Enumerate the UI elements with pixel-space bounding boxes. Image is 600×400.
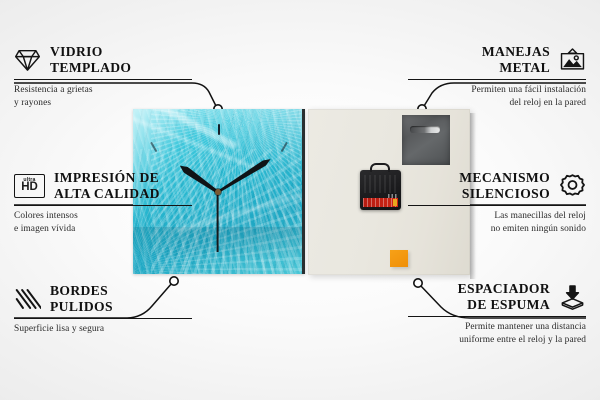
callout-desc-line1: Superficie lisa y segura [14,323,192,336]
metal-hanger-plate [402,115,450,165]
diamond-icon [14,47,41,73]
foam-spacer-pad [390,250,408,267]
callout-foam-spacer: ESPACIADOR DE ESPUMA Permite mantener un… [408,281,586,346]
callout-title-line2: PULIDOS [50,299,113,315]
clock-minute-hand [216,156,272,194]
callout-metal-handles: MANEJAS METAL Permiten una fácil instala… [408,44,586,109]
callout-rule [14,205,192,207]
callout-desc-line1: Resistencia a grietas [14,84,192,97]
gear-icon [559,173,586,199]
callout-desc-line1: Permiten una fácil instalación [408,84,586,97]
callout-desc-line1: Las manecillas del reloj [408,210,586,223]
callout-polished-edges: BORDES PULIDOS Superficie lisa y segura [14,283,192,336]
callout-title-line1: IMPRESIÓN DE [54,170,160,186]
battery-terminal [393,199,397,206]
callout-hd-print: ultra HD IMPRESIÓN DE ALTA CALIDAD Color… [14,170,192,235]
diagonal-lines-icon [14,286,41,312]
battery-compartment [363,198,398,207]
callout-desc-line2: uniforme entre el reloj y la pared [408,334,586,347]
callout-title-line2: DE ESPUMA [458,297,550,313]
callout-title-line2: ALTA CALIDAD [54,186,160,202]
clock-center-hub [215,189,221,195]
callout-title-line2: SILENCIOSO [459,186,550,202]
callout-desc-line2: e imagen vívida [14,223,192,236]
movement-housing-grill [364,175,397,193]
clock-movement-mechanism [360,170,401,210]
callout-desc-line2: del reloj en la pared [408,97,586,110]
callout-desc-line2: y rayones [14,97,192,110]
movement-hanging-loop [370,163,390,172]
callout-desc-line2: no emiten ningún sonido [408,223,586,236]
callout-rule [408,316,586,318]
ultra-hd-icon-main-text: HD [21,182,38,194]
callout-tempered-glass: VIDRIO TEMPLADO Resistencia a grietas y … [14,44,192,109]
callout-rule [14,79,192,81]
infographic-canvas: VIDRIO TEMPLADO Resistencia a grietas y … [0,0,600,400]
callout-rule [14,318,192,320]
callout-title-line2: TEMPLADO [50,60,131,76]
callout-title-line1: VIDRIO [50,44,131,60]
callout-title-line1: MECANISMO [459,170,550,186]
callout-silent-mechanism: MECANISMO SILENCIOSO Las manecillas del … [408,170,586,235]
callout-desc-line1: Permite mantener una distancia [408,321,586,334]
picture-frame-icon [559,47,586,73]
clock-second-hand [217,192,219,252]
hanger-slot [410,126,440,133]
callout-title-line1: ESPACIADOR [458,281,550,297]
callout-rule [408,205,586,207]
callout-rule [408,79,586,81]
callout-desc-line1: Colores intensos [14,210,192,223]
callout-title-line1: BORDES [50,283,113,299]
callout-title-line2: METAL [482,60,550,76]
ultra-hd-icon: ultra HD [14,174,45,198]
press-down-icon [559,284,586,310]
callout-title-line1: MANEJAS [482,44,550,60]
